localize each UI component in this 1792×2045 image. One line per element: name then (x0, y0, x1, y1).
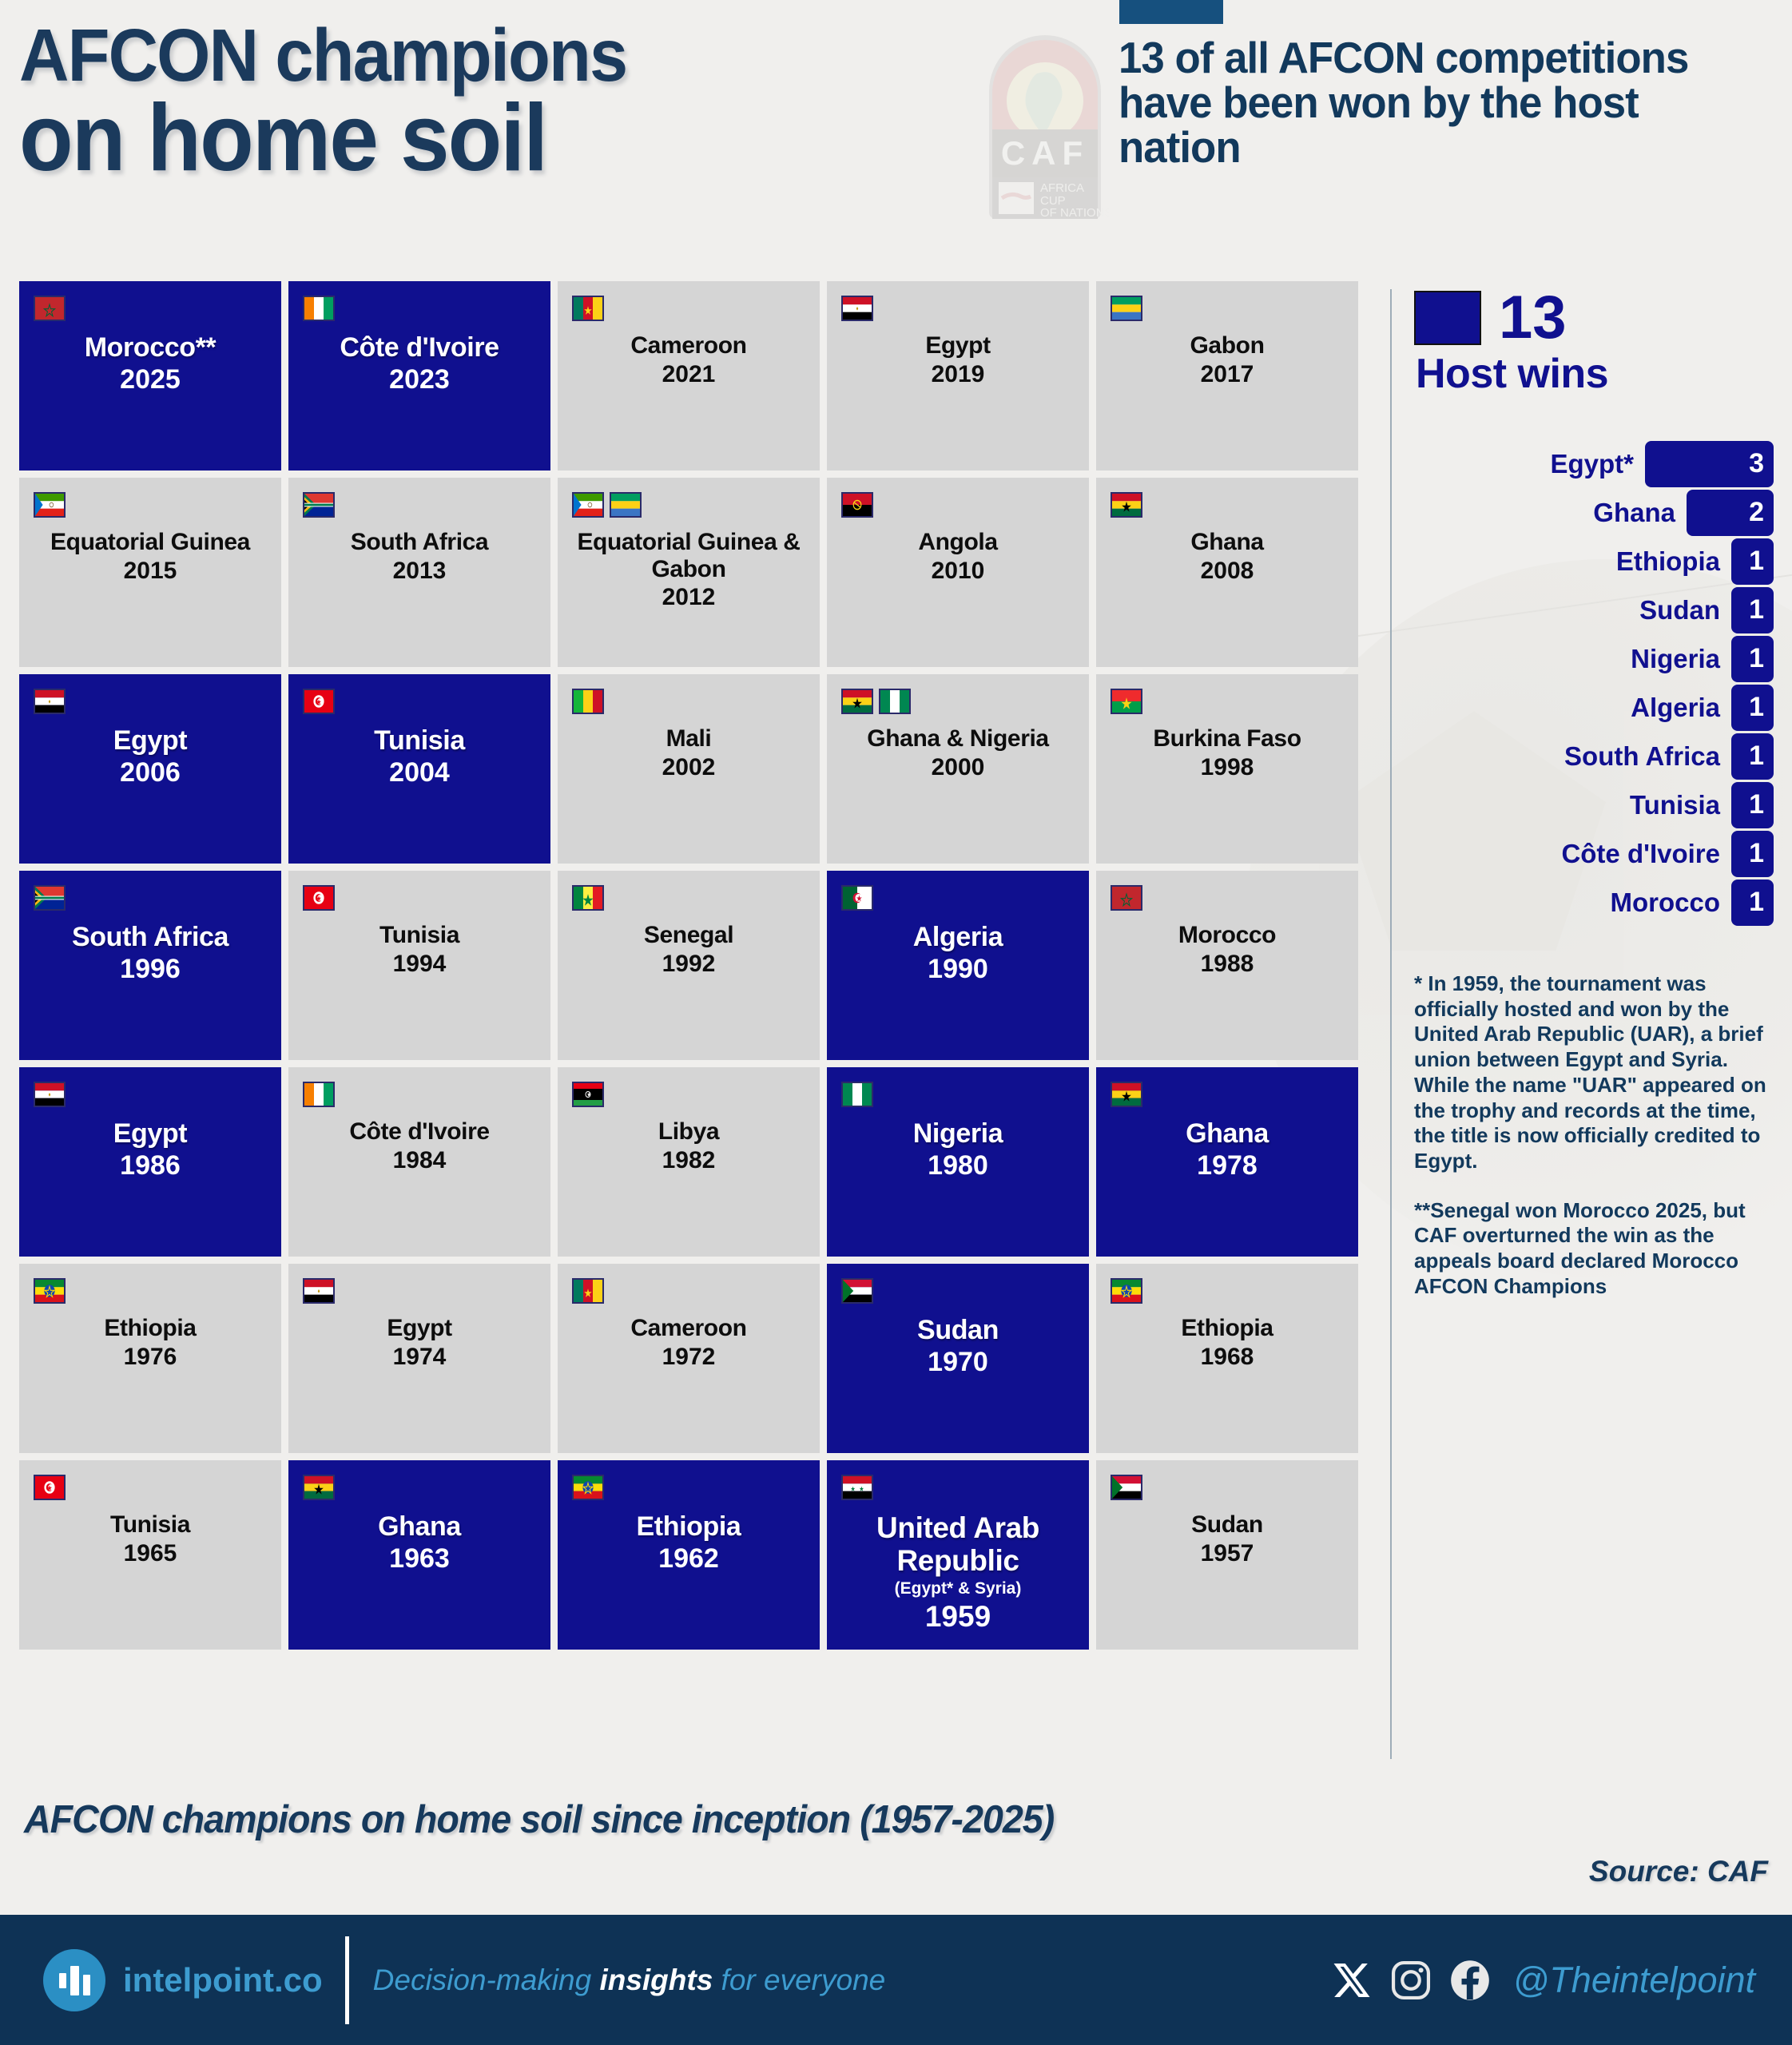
flag-row (841, 1475, 873, 1500)
flag-row (572, 1278, 604, 1304)
flag-row (572, 689, 604, 714)
bar-value-label: 1 (1749, 741, 1764, 772)
legend: 13 (1414, 288, 1774, 348)
champion-card[interactable]: Ethiopia1976 (19, 1264, 281, 1453)
card-body: Ethiopia1962 (567, 1511, 810, 1574)
flag-row (841, 1278, 873, 1304)
tagline-pre: Decision-making (373, 1964, 600, 1996)
card-country-name: Nigeria (836, 1118, 1079, 1149)
bar-category-label: Morocco (1414, 887, 1731, 918)
card-country-name: Morocco (1106, 922, 1349, 949)
card-year: 1984 (298, 1147, 541, 1174)
flag-icon-tn (303, 689, 335, 714)
card-country-name: Mali (567, 725, 810, 752)
bar-value-label: 1 (1749, 692, 1764, 723)
card-body: Equatorial Guinea2015 (29, 529, 272, 585)
bar: 1 (1731, 636, 1774, 682)
flag-row (1111, 1082, 1142, 1107)
card-country-name: Egypt (29, 725, 272, 756)
bar-value-label: 1 (1749, 594, 1764, 625)
footer: intelpoint.co Decision-making insights f… (0, 1915, 1792, 2045)
card-year: 2010 (836, 558, 1079, 585)
flag-icon-sd (841, 1278, 873, 1304)
bar: 1 (1731, 831, 1774, 877)
card-body: Ghana1978 (1106, 1118, 1349, 1181)
card-country-name: Cameroon (567, 1315, 810, 1342)
flag-row (841, 296, 873, 321)
flag-icon-ga (610, 492, 642, 518)
card-body: Senegal1992 (567, 922, 810, 978)
card-year: 2002 (567, 754, 810, 781)
flag-row (572, 296, 604, 321)
card-body: Egypt1986 (29, 1118, 272, 1181)
flag-icon-cm (572, 296, 604, 321)
card-body: Angola2010 (836, 529, 1079, 585)
card-body: Ethiopia1968 (1106, 1315, 1349, 1371)
card-year: 1992 (567, 951, 810, 978)
card-body: Egypt1974 (298, 1315, 541, 1371)
card-country-name: Egypt (836, 332, 1079, 359)
champion-card[interactable]: Ethiopia1968 (1096, 1264, 1358, 1453)
flag-icon-sd (1111, 1475, 1142, 1500)
host-wins-bar-chart: Egypt*3Ghana2Ethiopia1Sudan1Nigeria1Alge… (1414, 439, 1774, 927)
grid-row: Equatorial Guinea2015South Africa2013Equ… (19, 478, 1367, 667)
card-year: 1990 (836, 954, 1079, 985)
bar-row: Algeria1 (1414, 683, 1774, 732)
champion-card[interactable]: Ethiopia1962 (558, 1460, 820, 1650)
card-body: South Africa2013 (298, 529, 541, 585)
flag-row (1111, 885, 1142, 911)
bar-row: Tunisia1 (1414, 780, 1774, 829)
host-wins-panel: 13 Host wins Egypt*3Ghana2Ethiopia1Sudan… (1414, 281, 1774, 1300)
champion-card[interactable]: Ghana2008 (1096, 478, 1358, 667)
card-country-name: Sudan (1106, 1511, 1349, 1539)
flag-row (303, 885, 335, 911)
champion-card[interactable]: Morocco1988 (1096, 871, 1358, 1060)
flag-icon-gh (1111, 1082, 1142, 1107)
card-body: United Arab Republic(Egypt* & Syria)1959 (836, 1511, 1079, 1634)
card-country-name: Libya (567, 1118, 810, 1146)
card-year: 2006 (29, 757, 272, 788)
champion-card[interactable]: Gabon2017 (1096, 281, 1358, 471)
card-year: 1982 (567, 1147, 810, 1174)
card-year: 1972 (567, 1344, 810, 1371)
champion-card[interactable]: Equatorial Guinea2015 (19, 478, 281, 667)
intelpoint-logo-icon (43, 1949, 105, 2011)
bar-row: Ethiopia1 (1414, 537, 1774, 586)
main-content: Morocco**2025Côte d'Ivoire2023Cameroon20… (0, 281, 1792, 1791)
champion-card[interactable]: Tunisia1994 (288, 871, 550, 1060)
flag-row (303, 1278, 335, 1304)
card-country-name: Gabon (1106, 332, 1349, 359)
grid-row: Ethiopia1976Egypt1974Cameroon1972Sudan19… (19, 1264, 1367, 1453)
card-country-name: Côte d'Ivoire (298, 332, 541, 363)
grid-row: Egypt1986Côte d'Ivoire1984Libya1982Niger… (19, 1067, 1367, 1257)
title-line-1: AFCON champions (19, 21, 626, 89)
card-country-subtitle: (Egypt* & Syria) (836, 1579, 1079, 1598)
bar: 1 (1731, 587, 1774, 633)
card-country-name: Ghana (1106, 1118, 1349, 1149)
legend-total: 13 (1499, 288, 1567, 348)
flag-row (34, 885, 66, 911)
champion-card[interactable]: Cameroon2021 (558, 281, 820, 471)
bar-category-label: Ethiopia (1414, 546, 1731, 577)
flag-icon-uar (841, 1475, 873, 1500)
flag-row (34, 296, 66, 321)
bar-category-label: South Africa (1414, 741, 1731, 772)
card-body: Ghana2008 (1106, 529, 1349, 585)
card-country-name: Ethiopia (567, 1511, 810, 1542)
card-country-name: Ethiopia (1106, 1315, 1349, 1342)
flag-icon-gh (303, 1475, 335, 1500)
card-body: Cameroon2021 (567, 332, 810, 388)
caf-logo-icon: CAF AFRICA CUP OF NATIONS (981, 27, 1109, 219)
champion-card[interactable]: Algeria1990 (827, 871, 1089, 1060)
champion-card[interactable]: Egypt1974 (288, 1264, 550, 1453)
flag-row (1111, 296, 1142, 321)
bar-category-label: Nigeria (1414, 644, 1731, 674)
flag-icon-eg (34, 689, 66, 714)
caption-zone: AFCON champions on home soil since incep… (0, 1791, 1792, 1911)
card-year: 1963 (298, 1543, 541, 1574)
card-year: 2023 (298, 364, 541, 395)
flag-row (841, 492, 873, 518)
flag-icon-ci (303, 1082, 335, 1107)
x-icon[interactable] (1329, 1958, 1374, 2003)
flag-icon-eg (34, 1082, 66, 1107)
champion-card[interactable]: South Africa2013 (288, 478, 550, 667)
card-body: Morocco**2025 (29, 332, 272, 395)
card-year: 1970 (836, 1347, 1079, 1378)
flag-icon-ml (572, 689, 604, 714)
flag-row (34, 1278, 66, 1304)
card-body: Burkina Faso1998 (1106, 725, 1349, 781)
bar-category-label: Côte d'Ivoire (1414, 839, 1731, 869)
champion-card[interactable]: Mali2002 (558, 674, 820, 864)
champion-card[interactable]: Libya1982 (558, 1067, 820, 1257)
card-body: Libya1982 (567, 1118, 810, 1174)
caption-text: AFCON champions on home soil since incep… (24, 1797, 1054, 1842)
bar-row: South Africa1 (1414, 732, 1774, 780)
champion-card[interactable]: Senegal1992 (558, 871, 820, 1060)
card-country-name: United Arab Republic (836, 1511, 1079, 1578)
flag-row (572, 885, 604, 911)
flag-icon-eg (841, 296, 873, 321)
card-body: Egypt2019 (836, 332, 1079, 388)
card-body: Sudan1970 (836, 1315, 1079, 1378)
brand-name: intelpoint.co (123, 1961, 323, 1999)
card-year: 2008 (1106, 558, 1349, 585)
flag-row (34, 492, 66, 518)
footnotes: * In 1959, the tournament was officially… (1414, 971, 1774, 1300)
instagram-icon[interactable] (1389, 1958, 1433, 2003)
card-country-name: Burkina Faso (1106, 725, 1349, 752)
bar-category-label: Egypt* (1414, 449, 1645, 479)
champions-grid: Morocco**2025Côte d'Ivoire2023Cameroon20… (19, 281, 1367, 1657)
card-year: 1962 (567, 1543, 810, 1574)
card-country-name: Ghana & Nigeria (836, 725, 1079, 752)
social-handle: @Theintelpoint (1513, 1960, 1755, 2001)
social-links: @Theintelpoint (1329, 1958, 1755, 2003)
flag-icon-ng (879, 689, 911, 714)
bar-value-label: 1 (1749, 643, 1764, 674)
card-year: 1978 (1106, 1150, 1349, 1181)
card-body: Equatorial Guinea & Gabon2012 (567, 529, 810, 611)
flag-icon-ga (1111, 296, 1142, 321)
card-year: 1994 (298, 951, 541, 978)
card-country-name: South Africa (298, 529, 541, 556)
flag-row (1111, 492, 1142, 518)
card-country-name: Egypt (298, 1315, 541, 1342)
card-country-name: Ghana (298, 1511, 541, 1542)
card-body: Sudan1957 (1106, 1511, 1349, 1567)
champion-card[interactable]: Sudan1957 (1096, 1460, 1358, 1650)
flag-icon-ma (1111, 885, 1142, 911)
card-body: Algeria1990 (836, 922, 1079, 985)
bar-value-label: 1 (1749, 887, 1764, 918)
bar-category-label: Sudan (1414, 595, 1731, 625)
flag-row (841, 689, 911, 714)
champion-card[interactable]: Tunisia1965 (19, 1460, 281, 1650)
champion-card[interactable]: Egypt1986 (19, 1067, 281, 1257)
flag-icon-ng (841, 1082, 873, 1107)
title-line-2: on home soil (19, 94, 626, 183)
legend-color-swatch (1414, 291, 1481, 345)
bar: 1 (1731, 538, 1774, 585)
card-year: 2000 (836, 754, 1079, 781)
card-country-name: Equatorial Guinea (29, 529, 272, 556)
card-country-name: Angola (836, 529, 1079, 556)
champion-card[interactable]: Tunisia2004 (288, 674, 550, 864)
footnote-1: * In 1959, the tournament was officially… (1414, 971, 1774, 1174)
bar-value-label: 1 (1749, 838, 1764, 869)
legend-label: Host wins (1416, 350, 1774, 398)
flag-icon-tn (303, 885, 335, 911)
flag-row (1111, 1475, 1142, 1500)
card-country-name: Equatorial Guinea & Gabon (567, 529, 810, 582)
footnote-2: **Senegal won Morocco 2025, but CAF over… (1414, 1198, 1774, 1300)
flag-icon-ci (303, 296, 335, 321)
champion-card[interactable]: Burkina Faso1998 (1096, 674, 1358, 864)
card-year: 2004 (298, 757, 541, 788)
svg-text:AFRICA: AFRICA (1040, 181, 1084, 195)
grid-row: Egypt2006Tunisia2004Mali2002Ghana & Nige… (19, 674, 1367, 864)
flag-icon-sn (572, 885, 604, 911)
svg-text:OF NATIONS: OF NATIONS (1040, 206, 1109, 219)
card-body: Ghana & Nigeria2000 (836, 725, 1079, 781)
card-country-name: Tunisia (298, 922, 541, 949)
card-body: Mali2002 (567, 725, 810, 781)
bar-value-label: 2 (1749, 497, 1764, 528)
flag-icon-cm (572, 1278, 604, 1304)
grid-row: Tunisia1965Ghana1963Ethiopia1962United A… (19, 1460, 1367, 1650)
flag-icon-gq (34, 492, 66, 518)
flag-icon-bf (1111, 689, 1142, 714)
champion-card[interactable]: Ghana1963 (288, 1460, 550, 1650)
card-year: 1974 (298, 1344, 541, 1371)
grid-row: South Africa1996Tunisia1994Senegal1992Al… (19, 871, 1367, 1060)
bar: 1 (1731, 685, 1774, 731)
tagline: Decision-making insights for everyone (373, 1964, 886, 1997)
flag-icon-za (34, 885, 66, 911)
bar: 1 (1731, 733, 1774, 780)
grid-row: Morocco**2025Côte d'Ivoire2023Cameroon20… (19, 281, 1367, 471)
flag-row (34, 689, 66, 714)
card-year: 1957 (1106, 1540, 1349, 1567)
card-country-name: Tunisia (29, 1511, 272, 1539)
flag-row (572, 1475, 604, 1500)
card-year: 2019 (836, 361, 1079, 388)
flag-row (34, 1475, 66, 1500)
card-body: Tunisia1965 (29, 1511, 272, 1567)
brand-lockup[interactable]: intelpoint.co (43, 1949, 323, 2011)
bar-row: Ghana2 (1414, 488, 1774, 537)
card-body: Cameroon1972 (567, 1315, 810, 1371)
card-body: Tunisia2004 (298, 725, 541, 788)
kicker-accent-bar (1119, 0, 1223, 24)
flag-row (1111, 689, 1142, 714)
card-country-name: Cameroon (567, 332, 810, 359)
flag-row (572, 1082, 604, 1107)
flag-icon-et (34, 1278, 66, 1304)
flag-icon-tn (34, 1475, 66, 1500)
flag-icon-gq (572, 492, 604, 518)
card-year: 1980 (836, 1150, 1079, 1181)
flag-icon-ao (841, 492, 873, 518)
bar-category-label: Algeria (1414, 693, 1731, 723)
bar: 3 (1645, 441, 1774, 487)
champion-card[interactable]: Morocco**2025 (19, 281, 281, 471)
card-country-name: Sudan (836, 1315, 1079, 1345)
bar-category-label: Tunisia (1414, 790, 1731, 820)
champion-card[interactable]: South Africa1996 (19, 871, 281, 1060)
bar: 2 (1687, 490, 1774, 536)
champion-card[interactable]: Côte d'Ivoire2023 (288, 281, 550, 471)
champion-card[interactable]: Sudan1970 (827, 1264, 1089, 1453)
flag-icon-et (1111, 1278, 1142, 1304)
card-country-name: Ethiopia (29, 1315, 272, 1342)
flag-row (303, 1082, 335, 1107)
card-body: Gabon2017 (1106, 332, 1349, 388)
card-year: 1986 (29, 1150, 272, 1181)
bar-row: Nigeria1 (1414, 634, 1774, 683)
bar-value-label: 3 (1749, 448, 1764, 479)
card-body: Egypt2006 (29, 725, 272, 788)
tagline-bold: insights (599, 1964, 713, 1996)
champion-card[interactable]: Egypt2019 (827, 281, 1089, 471)
card-year: 2012 (567, 584, 810, 611)
bar-row: Côte d'Ivoire1 (1414, 829, 1774, 878)
card-country-name: Côte d'Ivoire (298, 1118, 541, 1146)
card-country-name: Egypt (29, 1118, 272, 1149)
flag-icon-eg (303, 1278, 335, 1304)
card-body: Nigeria1980 (836, 1118, 1079, 1181)
card-year: 1998 (1106, 754, 1349, 781)
page-title: AFCON champions on home soil (19, 21, 672, 183)
champion-card[interactable]: Angola2010 (827, 478, 1089, 667)
champion-card[interactable]: Ghana1978 (1096, 1067, 1358, 1257)
footer-divider (345, 1936, 349, 2024)
tagline-post: for everyone (713, 1964, 885, 1996)
card-body: Tunisia1994 (298, 922, 541, 978)
bar: 1 (1731, 782, 1774, 828)
card-country-name: South Africa (29, 922, 272, 952)
facebook-icon[interactable] (1448, 1958, 1492, 2003)
card-body: Ethiopia1976 (29, 1315, 272, 1371)
card-body: Côte d'Ivoire1984 (298, 1118, 541, 1174)
champion-card[interactable]: Cameroon1972 (558, 1264, 820, 1453)
svg-text:CAF: CAF (1001, 134, 1089, 172)
card-year: 1976 (29, 1344, 272, 1371)
card-country-name: Senegal (567, 922, 810, 949)
card-year: 2013 (298, 558, 541, 585)
flag-row (841, 885, 873, 911)
card-year: 2015 (29, 558, 272, 585)
flag-row (1111, 1278, 1142, 1304)
bar-value-label: 1 (1749, 789, 1764, 820)
flag-row (841, 1082, 873, 1107)
flag-icon-et (572, 1475, 604, 1500)
card-year: 1988 (1106, 951, 1349, 978)
flag-icon-dz (841, 885, 873, 911)
flag-icon-ly (572, 1082, 604, 1107)
flag-icon-gh (1111, 492, 1142, 518)
card-year: 2017 (1106, 361, 1349, 388)
champion-card[interactable]: Côte d'Ivoire1984 (288, 1067, 550, 1257)
flag-row (303, 296, 335, 321)
bar-category-label: Ghana (1414, 498, 1687, 528)
card-body: Morocco1988 (1106, 922, 1349, 978)
kicker-text: 13 of all AFCON competitions have been w… (1119, 35, 1755, 169)
flag-row (303, 689, 335, 714)
champion-card[interactable]: Equatorial Guinea & Gabon2012 (558, 478, 820, 667)
card-country-name: Tunisia (298, 725, 541, 756)
source-text: Source: CAF (1589, 1855, 1768, 1888)
bar-row: Morocco1 (1414, 878, 1774, 927)
card-body: Côte d'Ivoire2023 (298, 332, 541, 395)
champion-card[interactable]: Egypt2006 (19, 674, 281, 864)
flag-icon-za (303, 492, 335, 518)
card-body: South Africa1996 (29, 922, 272, 985)
card-body: Ghana1963 (298, 1511, 541, 1574)
flag-icon-ma (34, 296, 66, 321)
champion-card[interactable]: Ghana & Nigeria2000 (827, 674, 1089, 864)
card-year: 1968 (1106, 1344, 1349, 1371)
flag-icon-gh (841, 689, 873, 714)
bar-value-label: 1 (1749, 546, 1764, 577)
flag-row (303, 1475, 335, 1500)
card-year: 2021 (567, 361, 810, 388)
flag-row (303, 492, 335, 518)
card-year: 1959 (836, 1600, 1079, 1634)
card-country-name: Morocco** (29, 332, 272, 363)
champion-card[interactable]: Nigeria1980 (827, 1067, 1089, 1257)
card-country-name: Ghana (1106, 529, 1349, 556)
bar: 1 (1731, 880, 1774, 926)
panel-divider (1390, 289, 1392, 1759)
bar-row: Sudan1 (1414, 586, 1774, 634)
card-year: 1965 (29, 1540, 272, 1567)
card-country-name: Algeria (836, 922, 1079, 952)
flag-row (572, 492, 642, 518)
card-year: 1996 (29, 954, 272, 985)
champion-card[interactable]: United Arab Republic(Egypt* & Syria)1959 (827, 1460, 1089, 1650)
bar-row: Egypt*3 (1414, 439, 1774, 488)
header: AFCON champions on home soil CAF AFRICA … (0, 0, 1792, 281)
card-year: 2025 (29, 364, 272, 395)
flag-row (34, 1082, 66, 1107)
